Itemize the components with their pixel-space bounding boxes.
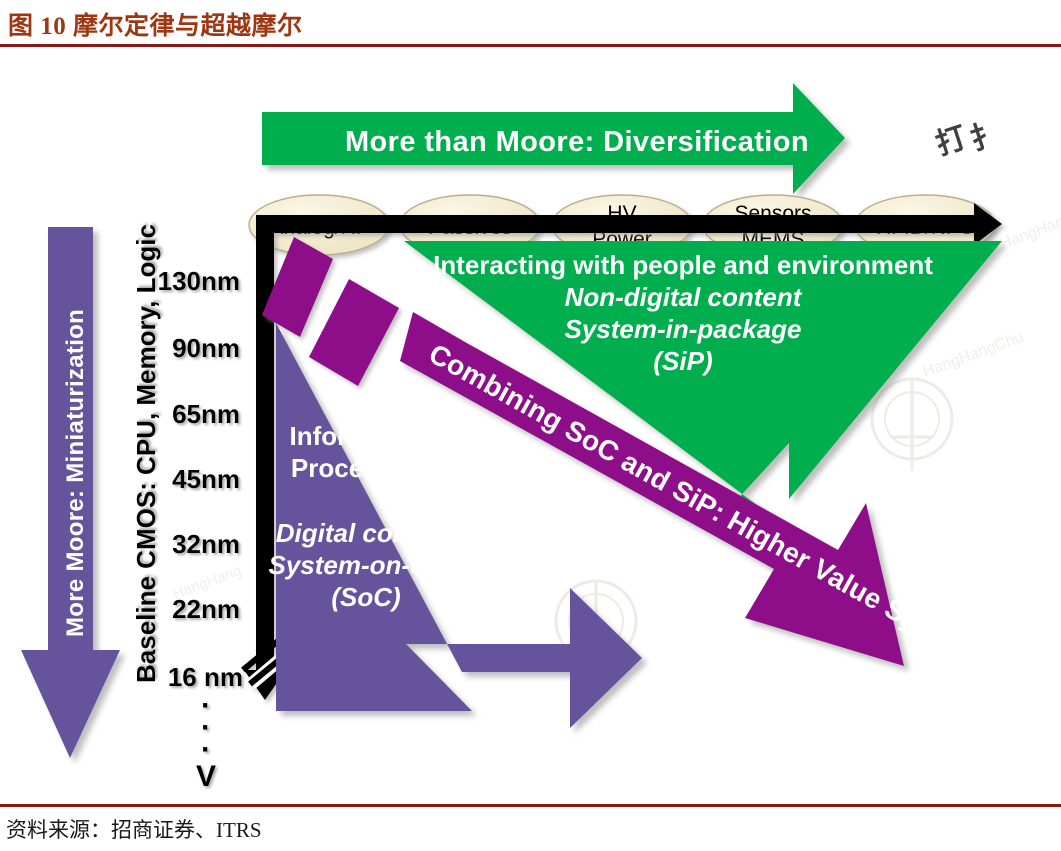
y-axis-continuation: · · · V: [196, 689, 216, 793]
svg-text:打: 打: [932, 121, 971, 162]
y-tick-label: 130nm: [158, 266, 240, 296]
figure-source: 资料来源：招商证券、ITRS: [6, 814, 262, 844]
moore-law-diagram: 打 扌 HangHangChu HangHangChu HangHang Mor…: [0, 47, 1061, 804]
y-tick-label: 16 nm: [168, 662, 243, 692]
slate-label-line4: System-on-chip: [268, 550, 463, 580]
svg-text:HangHangChu: HangHangChu: [921, 329, 1026, 381]
green-label-line4: (SiP): [653, 346, 712, 376]
continuation-v: V: [196, 760, 216, 793]
top-arrow-label: More than Moore: Diversification: [345, 126, 809, 158]
green-label-line1: Interacting with people and environment: [433, 250, 933, 280]
figure-page: 图 10 摩尔定律与超越摩尔: [0, 0, 1061, 851]
y-tick-label: 65nm: [172, 399, 240, 429]
y-tick-label: 32nm: [172, 529, 240, 559]
svg-text:HangHangChu: HangHangChu: [998, 201, 1061, 253]
slate-label-line2: Processing: [291, 453, 431, 483]
slate-label-line3: Digital content: [276, 518, 458, 548]
y-tick-label: 45nm: [172, 464, 240, 494]
green-label-line2: Non-digital content: [565, 282, 803, 312]
svg-text:扌: 扌: [966, 116, 1005, 157]
y-tick-label: 90nm: [172, 333, 240, 363]
y-tick-labels: 130nm 90nm 65nm 45nm 32nm 22nm 16 nm: [158, 266, 243, 692]
slate-label-line1: Information: [290, 421, 433, 451]
page-title: 图 10 摩尔定律与超越摩尔: [8, 6, 303, 42]
y-axis-caption: Baseline CMOS: CPU, Memory, Logic: [131, 224, 161, 683]
footer-divider: [0, 804, 1061, 807]
y-tick-label: 22nm: [172, 594, 240, 624]
green-label-line3: System-in-package: [565, 314, 802, 344]
slate-label-line5: (SoC): [331, 582, 400, 612]
left-arrow-label: More Moore: Miniaturization: [62, 309, 89, 637]
